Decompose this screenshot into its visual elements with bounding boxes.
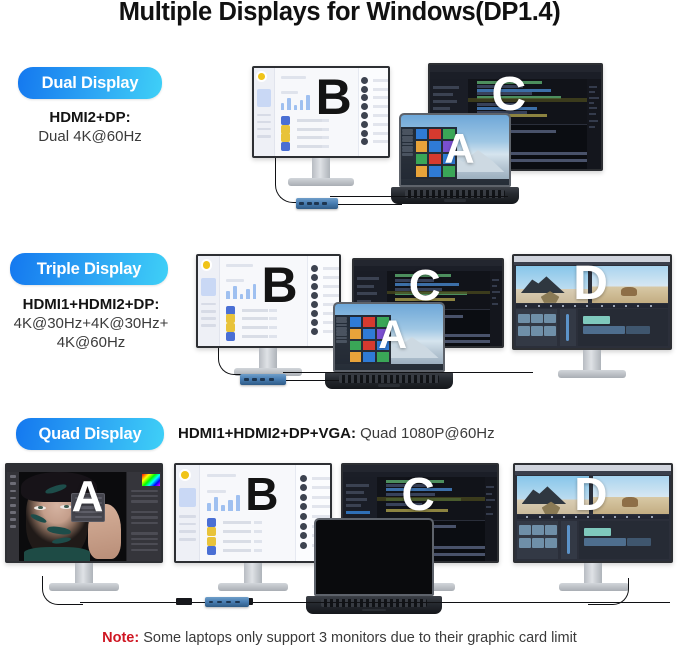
cable-monitor-b (275, 158, 306, 203)
avatar (203, 261, 210, 268)
note-text: Some laptops only support 3 monitors due… (139, 630, 577, 646)
monitor-base (218, 583, 288, 591)
start-menu-tiles (416, 129, 455, 177)
table-row (207, 537, 290, 541)
table-row (281, 116, 354, 120)
timeline-clip (584, 528, 611, 536)
editor-titlebar (343, 465, 497, 472)
color-picker-swatch[interactable] (142, 474, 160, 486)
laptop-keyboard-deck (306, 596, 443, 614)
cable-monitor-b (218, 348, 249, 375)
editor-highlight-line (468, 98, 588, 102)
monitor-neck (244, 563, 262, 585)
laptop-keyboard (339, 375, 439, 383)
footer-note: Note: Some laptops only support 3 monito… (0, 630, 679, 646)
windows-desktop-ui (401, 115, 509, 185)
contact-item (311, 274, 336, 279)
spec-quad-normal: Quad 1080P@60Hz (356, 425, 495, 442)
monitor-b-dual: B (252, 66, 390, 184)
spec-quad-bold: HDMI1+HDMI2+DP+VGA: (178, 425, 356, 442)
cable-monitor-a-quad (42, 576, 83, 605)
page-title: Multiple Displays for Windows(DP1.4) (0, 0, 679, 27)
spec-dual-display: HDMI2+DP: Dual 4K@60Hz (10, 108, 170, 146)
contact-item (300, 475, 327, 480)
video-editor-ui (514, 256, 670, 348)
contact-item (361, 94, 385, 98)
dashboard-rows (226, 306, 302, 341)
timeline-clip (583, 316, 610, 324)
table-row (281, 142, 354, 146)
video-media-bin (516, 309, 557, 346)
start-menu (401, 127, 457, 179)
monitor-neck (259, 348, 277, 370)
editor-titlebar (430, 65, 601, 72)
video-effects-panel (560, 309, 576, 346)
monitor-a-quad: A (5, 463, 163, 593)
dashboard-rows (281, 116, 354, 150)
sidebar-list-item (257, 135, 271, 138)
contact-item (361, 121, 385, 125)
laptop-screen (314, 518, 434, 596)
start-menu (335, 315, 391, 364)
contact-item (311, 265, 336, 270)
usb-c-hub-triple[interactable] (240, 374, 286, 385)
laptop-screen: A (333, 302, 445, 372)
table-row (226, 314, 302, 318)
avatar (181, 471, 189, 479)
laptop-trackpad (362, 609, 387, 612)
dashboard-main (219, 256, 308, 346)
editor-minimap (485, 477, 497, 561)
timeline-clip (584, 538, 625, 546)
monitor-d-quad-screen: D (513, 463, 673, 563)
infographic-page: Multiple Displays for Windows(DP1.4) Dua… (0, 0, 679, 659)
monitor-d-quad: D (513, 463, 673, 593)
badge-dual-display: Dual Display (18, 67, 162, 99)
cable-hub-to-monitor-d (283, 372, 533, 373)
start-menu-tiles (350, 317, 389, 362)
laptop-trackpad (444, 199, 467, 202)
monitor-d-triple-screen: D (512, 254, 672, 350)
monitor-b-triple-screen: B (196, 254, 341, 348)
contact-item (361, 130, 385, 134)
contact-item (361, 77, 385, 81)
laptop-keyboard (321, 599, 428, 607)
portrait-eye-left (34, 506, 46, 510)
video-preview-right (592, 266, 668, 303)
table-row (207, 518, 290, 522)
heading-line (281, 76, 306, 79)
photo-canvas (19, 472, 127, 561)
sidebar-card (257, 89, 271, 107)
monitor-b-dual-screen: B (252, 66, 390, 158)
sidebar-list-item (201, 324, 216, 327)
photo-toolbar (7, 465, 161, 472)
table-row (207, 527, 290, 531)
heading-line (207, 474, 236, 477)
photo-right-panel (126, 472, 161, 561)
spec-dual-normal: Dual 4K@60Hz (10, 127, 170, 146)
photo-floating-panel (71, 493, 105, 522)
table-row (281, 125, 354, 129)
video-media-bin (517, 521, 558, 559)
cable-monitor-d-quad (588, 578, 629, 605)
video-effects-panel (561, 521, 577, 559)
laptop-quad (314, 518, 434, 618)
cable-plug (176, 598, 192, 605)
video-ruler (516, 304, 667, 308)
contact-item (361, 86, 385, 90)
spec-triple-display: HDMI1+HDMI2+DP: 4K@30Hz+4K@30Hz+ 4K@60Hz (0, 295, 182, 353)
video-preview-right (593, 476, 669, 514)
usb-c-hub-dual[interactable] (296, 198, 338, 209)
contact-item (300, 503, 327, 508)
preview-mountain (522, 486, 566, 504)
cable-hub-to-laptop (283, 380, 339, 381)
spec-quad-display: HDMI1+HDMI2+DP+VGA: Quad 1080P@60Hz (178, 424, 508, 444)
preview-camel (621, 287, 638, 297)
dashboard-main (274, 68, 358, 156)
taskbar (401, 179, 509, 185)
sidebar-list-item (201, 317, 216, 320)
editor-highlight-line (387, 291, 491, 294)
timeline-clip (627, 538, 650, 546)
monitor-neck (312, 158, 330, 180)
sidebar-card (179, 488, 196, 507)
sidebar-list-item (257, 114, 271, 117)
dashboard-ui (254, 68, 388, 156)
bar-chart (207, 492, 240, 511)
timeline-clip (626, 326, 649, 333)
contact-item (361, 138, 385, 142)
laptop-screen: A (399, 113, 511, 187)
windows-desktop-ui (335, 304, 443, 370)
sidebar-list-item (179, 523, 196, 526)
table-row (226, 306, 302, 310)
contact-item (300, 494, 327, 499)
spec-triple-normal2: 4K@60Hz (0, 333, 182, 352)
monitor-b-quad-screen: B (174, 463, 332, 563)
video-preview-left (517, 476, 589, 514)
badge-triple-display: Triple Display (10, 253, 168, 285)
bar-chart (226, 281, 256, 299)
usb-c-hub-quad[interactable] (205, 597, 249, 607)
spec-triple-normal: 4K@30Hz+4K@30Hz+ (0, 314, 182, 333)
sidebar-list-item (179, 538, 196, 541)
dashboard-contacts-panel (358, 68, 388, 156)
timeline-clip (583, 326, 624, 333)
dashboard-ui (198, 256, 339, 346)
contact-item (311, 283, 336, 288)
video-timeline (578, 309, 668, 346)
video-preview-left (516, 266, 588, 303)
spec-dual-bold: HDMI2+DP: (10, 108, 170, 127)
monitor-b-quad: B (174, 463, 332, 593)
video-menubar (514, 262, 670, 266)
spec-triple-bold: HDMI1+HDMI2+DP: (0, 295, 182, 314)
dashboard-rows (207, 518, 290, 555)
monitor-a-quad-screen: A (5, 463, 163, 563)
bar-chart (281, 93, 310, 111)
sidebar-card (201, 278, 216, 296)
note-label: Note: (102, 630, 139, 646)
monitor-base (558, 370, 626, 378)
cable-hub-to-laptop (330, 204, 402, 205)
portrait-sweater (24, 547, 91, 561)
photo-editor-ui (7, 465, 161, 561)
video-ruler (517, 515, 668, 519)
table-row (226, 332, 302, 336)
monitor-d-triple: D (512, 254, 672, 379)
start-menu-applist (402, 129, 413, 177)
start-menu-applist (336, 317, 347, 362)
editor-minimap (587, 79, 601, 169)
sidebar-list-item (201, 303, 216, 306)
sidebar-list-item (179, 530, 196, 533)
video-timeline (579, 521, 669, 559)
sidebar-list-item (179, 515, 196, 518)
preview-camel (622, 497, 639, 507)
editor-highlight-line (377, 497, 485, 501)
photo-tools-panel (7, 472, 19, 561)
dashboard-sidebar (176, 465, 200, 561)
dashboard-ui (176, 465, 330, 561)
contact-item (361, 112, 385, 116)
cable-hub-to-monitor-c (330, 196, 508, 197)
table-row (226, 323, 302, 327)
badge-quad-display: Quad Display (16, 418, 164, 450)
dashboard-sidebar (254, 68, 275, 156)
editor-minimap (490, 271, 502, 346)
preview-mountain (521, 276, 565, 293)
dashboard-sidebar (198, 256, 220, 346)
laptop-trackpad (378, 384, 401, 387)
table-row (281, 133, 354, 137)
sidebar-list-item (257, 121, 271, 124)
laptop-keyboard-deck (325, 372, 453, 389)
video-menubar (515, 471, 671, 475)
laptop-a-dual: A (399, 113, 511, 213)
contact-item (300, 484, 327, 489)
sidebar-list-item (257, 128, 271, 131)
dashboard-main (199, 465, 296, 561)
avatar (258, 73, 265, 80)
contact-item (311, 292, 336, 297)
taskbar (335, 364, 443, 370)
heading-line (226, 264, 253, 267)
table-row (207, 546, 290, 550)
sidebar-list-item (201, 310, 216, 313)
monitor-neck (583, 350, 601, 372)
video-editor-ui (515, 465, 671, 561)
contact-item (361, 103, 385, 107)
laptop-a-triple: A (333, 302, 445, 398)
